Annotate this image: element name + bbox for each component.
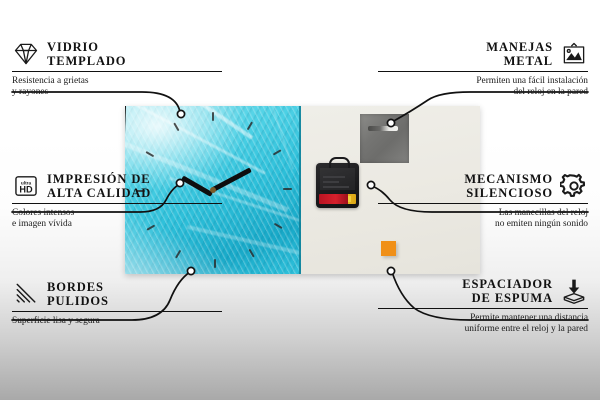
feature-divider xyxy=(378,203,588,204)
feature-title: BORDES PULIDOS xyxy=(47,280,109,308)
feature-divider xyxy=(12,311,222,312)
metal-hanger-plate xyxy=(360,114,409,163)
foam-spacer-arrow-icon xyxy=(560,277,588,305)
feature-title: ESPACIADOR DE ESPUMA xyxy=(462,277,553,305)
picture-frame-hook-icon xyxy=(560,40,588,68)
feature-divider xyxy=(12,203,222,204)
mechanism-hanging-loop xyxy=(329,157,350,168)
feature-subtitle: Permiten una fácil instalación del reloj… xyxy=(378,76,588,99)
feature-divider xyxy=(378,71,588,72)
feature-manejas-metal: MANEJAS METAL Permiten una fácil instala… xyxy=(378,40,588,99)
clock-mechanism-box xyxy=(316,163,359,208)
feature-subtitle: Resistencia a grietas y rayones xyxy=(12,76,222,99)
feature-vidrio-templado: VIDRIO TEMPLADO Resistencia a grietas y … xyxy=(12,40,222,99)
feature-mecanismo-silencioso: MECANISMO SILENCIOSO Las manecillas del … xyxy=(378,172,588,231)
ultra-hd-icon-main-label: HD xyxy=(19,185,33,195)
foam-spacer xyxy=(381,241,396,256)
feature-espaciador-espuma: ESPACIADOR DE ESPUMA Permite mantener un… xyxy=(378,277,588,336)
feature-title: IMPRESIÓN DE ALTA CALIDAD xyxy=(47,172,151,200)
diamond-icon xyxy=(12,40,40,68)
feature-title: MECANISMO SILENCIOSO xyxy=(464,172,553,200)
feature-divider xyxy=(12,71,222,72)
feature-subtitle: Superficie lisa y segura xyxy=(12,316,222,328)
infographic-canvas: VIDRIO TEMPLADO Resistencia a grietas y … xyxy=(0,0,600,400)
clock-second-hand xyxy=(125,106,126,168)
feature-bordes-pulidos: BORDES PULIDOS Superficie lisa y segura xyxy=(12,280,222,327)
feature-title: VIDRIO TEMPLADO xyxy=(47,40,126,68)
feature-title: MANEJAS METAL xyxy=(486,40,553,68)
gear-icon xyxy=(560,172,588,200)
feature-divider xyxy=(378,308,588,309)
feature-impresion-alta-calidad: ultra HD IMPRESIÓN DE ALTA CALIDAD Color… xyxy=(12,172,222,231)
battery xyxy=(319,194,356,204)
feature-subtitle: Las manecillas del reloj no emiten ningú… xyxy=(378,208,588,231)
hanger-keyhole-slot xyxy=(368,126,398,131)
polished-edges-icon xyxy=(12,280,40,308)
feature-subtitle: Colores intensos e imagen vívida xyxy=(12,208,222,231)
feature-subtitle: Permite mantener una distancia uniforme … xyxy=(378,313,588,336)
ultra-hd-icon: ultra HD xyxy=(12,172,40,200)
